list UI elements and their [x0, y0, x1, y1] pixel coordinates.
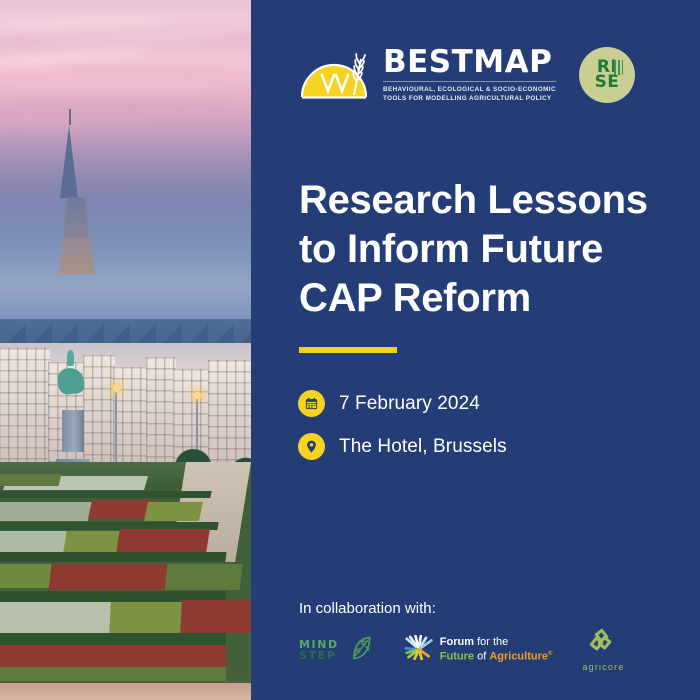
bestmap-wordmark: BESTMAP	[383, 47, 556, 78]
leaf-circuit-icon	[346, 634, 374, 667]
agricore-knot-icon	[588, 628, 618, 660]
rise-logo[interactable]: RI SE	[579, 47, 635, 103]
street-lamp-post	[115, 392, 117, 469]
street-lamp-glow-2	[194, 392, 201, 399]
event-details: 7 February 2024 The Hotel, Brussels	[298, 390, 507, 476]
logo-bar: BESTMAP Behavioural, Ecological & Socio-…	[298, 47, 635, 103]
partner-forum-future-agriculture[interactable]: Forum for the Future of Agriculture®	[404, 635, 553, 665]
forum-agriculture: Agriculture	[489, 650, 548, 662]
forum-future: Future	[440, 650, 474, 662]
forum-line-1: Forum for the	[440, 637, 553, 649]
page-title-line-2: to Inform Future	[299, 225, 679, 274]
town-hall-spire	[60, 126, 78, 198]
town-hall-tower-lower	[59, 238, 95, 274]
rise-barcode-mark	[614, 60, 623, 75]
garden-foreground-path	[0, 683, 251, 700]
partner-agricore[interactable]: agricore	[582, 628, 624, 672]
forum-wordmark: Forum for the Future of Agriculture®	[440, 637, 553, 663]
content-panel: BESTMAP Behavioural, Ecological & Socio-…	[251, 0, 700, 700]
map-pin-icon	[298, 433, 325, 460]
collaboration-label: In collaboration with:	[299, 600, 436, 617]
page-title-line-3: CAP Reform	[299, 274, 679, 323]
forum-bold: Forum	[440, 636, 474, 648]
brussels-skyline-photo	[0, 0, 251, 700]
rise-line-2: SE	[595, 75, 620, 90]
mind-step-line-2: STEP	[299, 650, 339, 661]
forum-trademark: ®	[548, 651, 552, 657]
event-promo-card: BESTMAP Behavioural, Ecological & Socio-…	[0, 0, 700, 700]
bestmap-tagline-line2: Tools for Modelling Agricultural Policy	[383, 94, 556, 103]
partner-mind-step[interactable]: MIND STEP	[299, 634, 374, 667]
mont-des-arts-gardens	[0, 462, 251, 700]
accent-rule	[299, 347, 397, 353]
mind-step-wordmark: MIND STEP	[299, 639, 339, 661]
bestmap-sun-wheat-mark	[298, 51, 374, 99]
page-title-line-1: Research Lessons	[299, 176, 679, 225]
calendar-icon	[298, 390, 325, 417]
bestmap-tagline: Behavioural, Ecological & Socio-economic…	[383, 81, 556, 103]
agricore-wordmark: agricore	[582, 662, 624, 672]
equestrian-statue-rider	[67, 350, 74, 366]
event-location: The Hotel, Brussels	[339, 436, 507, 458]
partner-logos: MIND STEP	[299, 628, 625, 672]
page-title: Research Lessons to Inform Future CAP Re…	[299, 176, 679, 323]
event-date-row: 7 February 2024	[298, 390, 507, 417]
forum-line-2: Future of Agriculture®	[440, 649, 553, 663]
forum-fan-icon	[404, 635, 434, 665]
forum-rest: for the	[474, 636, 508, 648]
photo-canvas	[0, 0, 251, 700]
town-hall-needle	[69, 109, 71, 125]
event-location-row: The Hotel, Brussels	[298, 433, 507, 460]
forum-of: of	[474, 650, 489, 662]
bestmap-tagline-line1: Behavioural, Ecological & Socio-economic	[383, 85, 556, 94]
sunset-sky	[0, 0, 251, 322]
bestmap-text-block: BESTMAP Behavioural, Ecological & Socio-…	[383, 47, 556, 103]
bestmap-logo[interactable]: BESTMAP Behavioural, Ecological & Socio-…	[298, 47, 556, 103]
event-date: 7 February 2024	[339, 393, 480, 415]
